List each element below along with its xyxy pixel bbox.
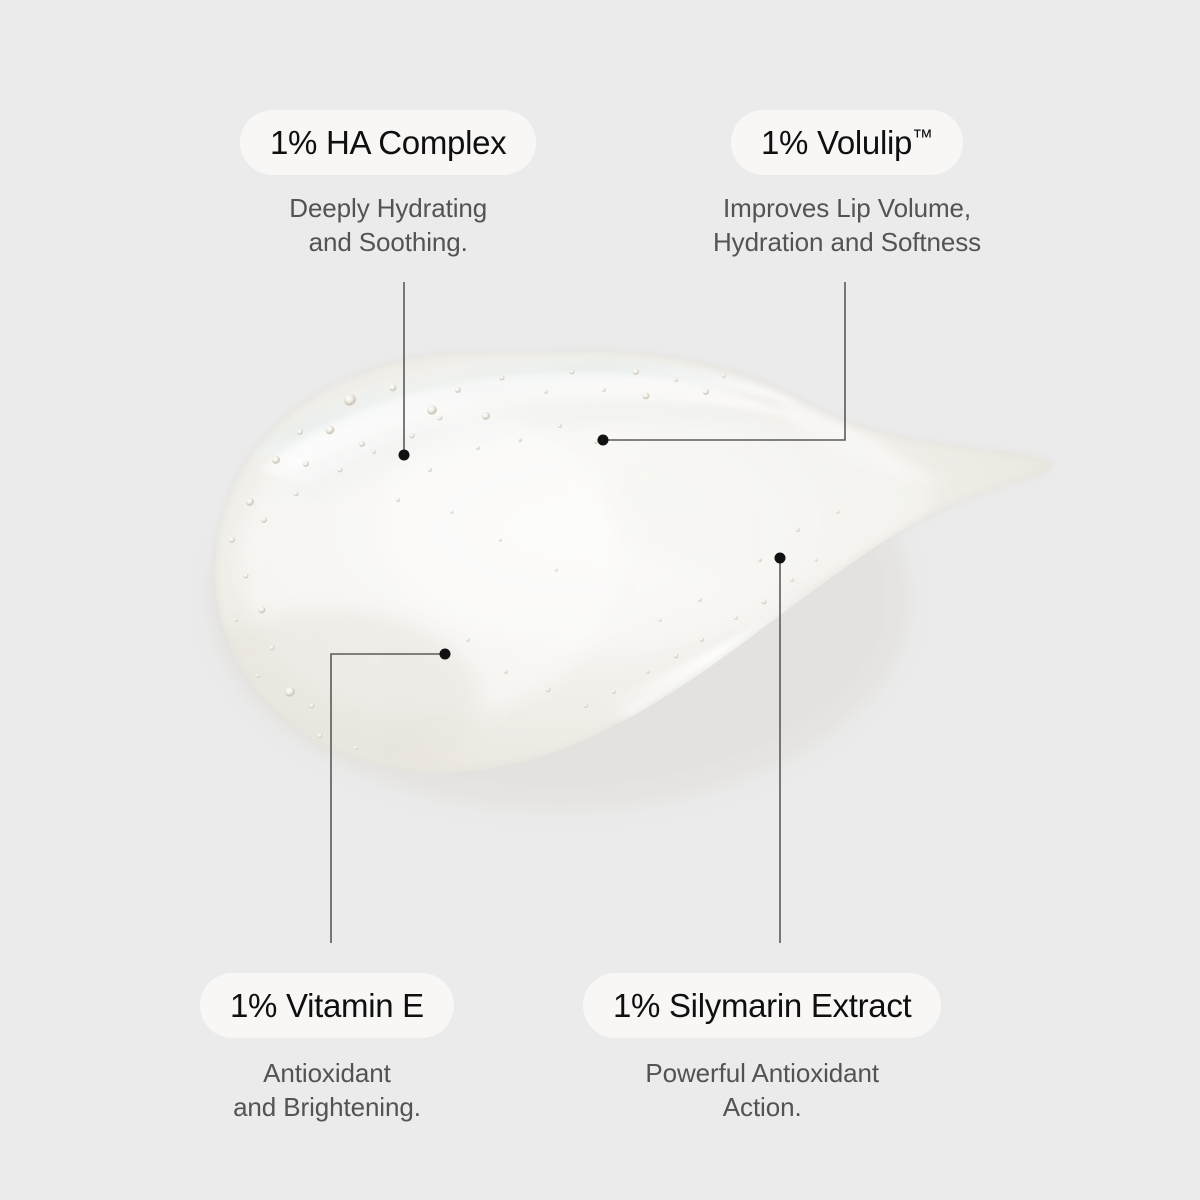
callout-volulip: 1% Volulip™ Improves Lip Volume, Hydrati… <box>713 110 981 260</box>
description-silymarin-extract: Powerful Antioxidant Action. <box>645 1056 879 1125</box>
pill-silymarin-extract[interactable]: 1% Silymarin Extract <box>583 973 941 1038</box>
trademark-icon: ™ <box>912 126 933 149</box>
leader-line-vitamin-e <box>331 654 442 943</box>
callout-ha-complex: 1% HA Complex Deeply Hydrating and Sooth… <box>240 110 536 260</box>
pill-label-ha-complex: 1% HA Complex <box>270 126 506 159</box>
description-vitamin-e: Antioxidant and Brightening. <box>233 1056 421 1125</box>
ingredient-infographic: 1% HA Complex Deeply Hydrating and Sooth… <box>0 0 1200 1200</box>
description-ha-complex: Deeply Hydrating and Soothing. <box>289 191 487 260</box>
leader-dot-vitamin-e <box>440 649 451 660</box>
pill-volulip[interactable]: 1% Volulip™ <box>731 110 963 175</box>
leader-line-volulip <box>606 282 845 440</box>
leader-dot-volulip <box>598 435 609 446</box>
leader-dot-ha-complex <box>399 450 410 461</box>
pill-ha-complex[interactable]: 1% HA Complex <box>240 110 536 175</box>
pill-vitamin-e[interactable]: 1% Vitamin E <box>200 973 454 1038</box>
pill-label-volulip: 1% Volulip™ <box>761 126 933 159</box>
callout-silymarin-extract: 1% Silymarin Extract Powerful Antioxidan… <box>583 973 941 1125</box>
pill-label-vitamin-e: 1% Vitamin E <box>230 989 424 1022</box>
pill-label-volulip-text: 1% Volulip <box>761 124 912 161</box>
pill-label-silymarin-extract: 1% Silymarin Extract <box>613 989 911 1022</box>
description-volulip: Improves Lip Volume, Hydration and Softn… <box>713 191 981 260</box>
leader-dot-silymarin-extract <box>775 553 786 564</box>
callout-vitamin-e: 1% Vitamin E Antioxidant and Brightening… <box>200 973 454 1125</box>
